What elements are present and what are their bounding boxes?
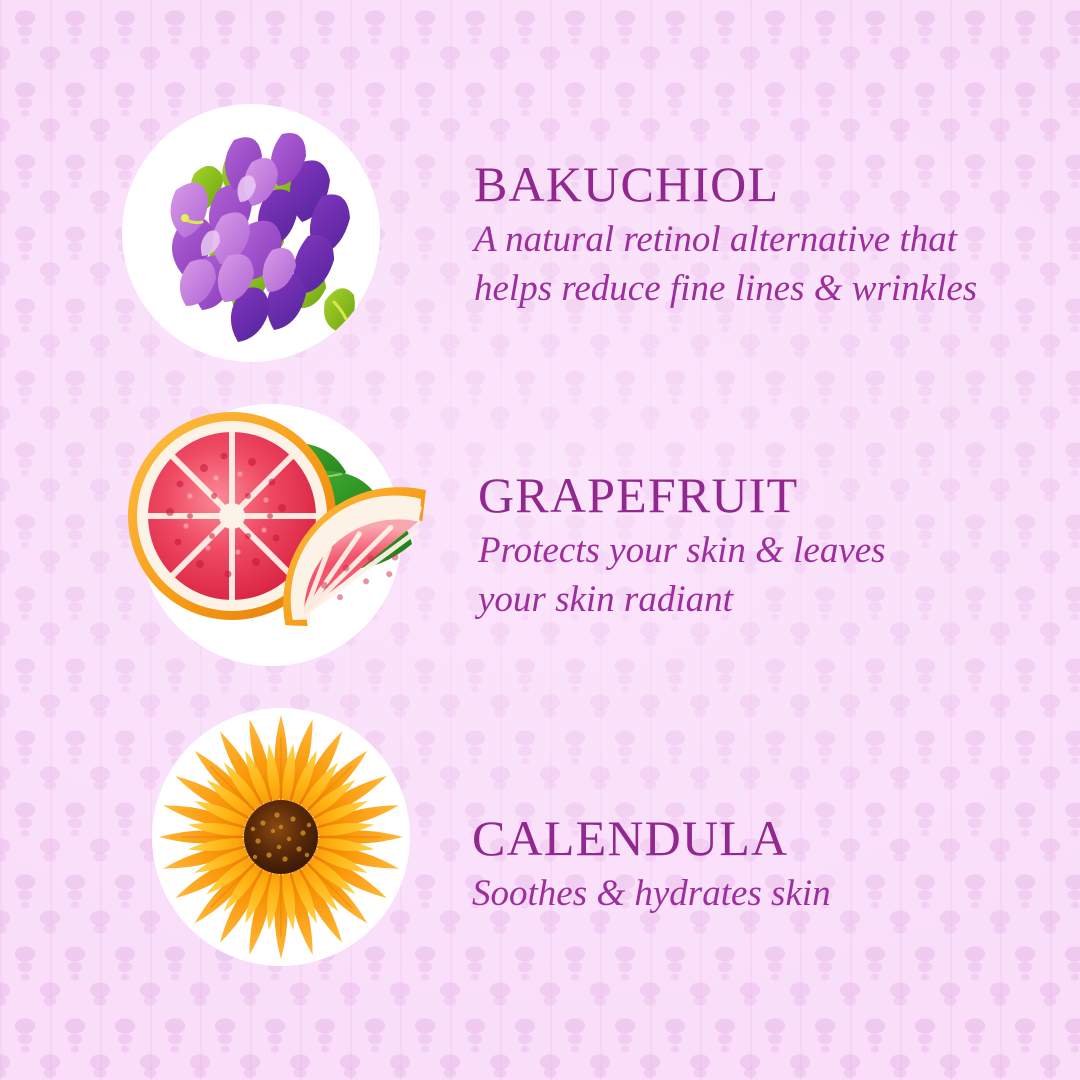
ingredient-description: A natural retinol alternative that helps… xyxy=(474,216,977,312)
ingredient-row-grapefruit: GRAPEFRUIT Protects your skin & leaves y… xyxy=(0,404,886,666)
calendula-flower-image xyxy=(152,708,452,966)
ingredient-description: Protects your skin & leaves your skin ra… xyxy=(478,527,886,623)
calendula-media xyxy=(152,708,452,966)
ingredient-title: BAKUCHIOL xyxy=(474,159,977,210)
grapefruit-media xyxy=(120,404,450,666)
grapefruit-image xyxy=(120,404,450,666)
ingredient-title: CALENDULA xyxy=(472,813,831,864)
ingredient-highlight-card: BAKUCHIOL A natural retinol alternative … xyxy=(0,0,1080,1080)
ingredient-description: Soothes & hydrates skin xyxy=(472,870,831,918)
bakuchiol-copy: BAKUCHIOL A natural retinol alternative … xyxy=(474,159,977,312)
bakuchiol-media xyxy=(122,104,422,364)
bakuchiol-flower-image xyxy=(122,104,422,364)
ingredient-row-calendula: CALENDULA Soothes & hydrates skin xyxy=(0,708,831,966)
ingredient-row-bakuchiol: BAKUCHIOL A natural retinol alternative … xyxy=(0,104,977,364)
ingredient-title: GRAPEFRUIT xyxy=(478,470,886,521)
calendula-copy: CALENDULA Soothes & hydrates skin xyxy=(472,813,831,918)
grapefruit-copy: GRAPEFRUIT Protects your skin & leaves y… xyxy=(478,470,886,623)
